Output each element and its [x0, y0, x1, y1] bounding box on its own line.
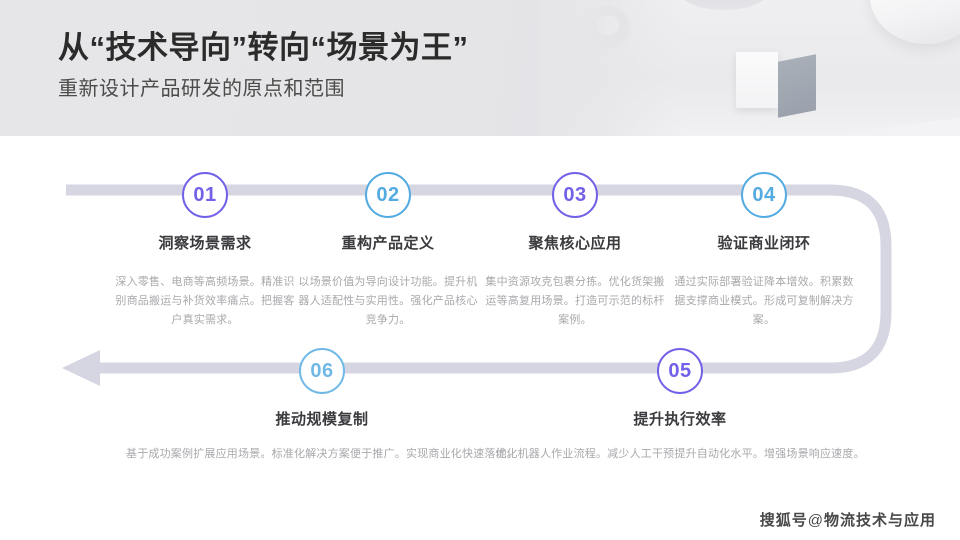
step-number-badge-04: 04: [741, 172, 787, 218]
page-subtitle: 重新设计产品研发的原点和范围: [58, 72, 345, 101]
step-title-01: 洞察场景需求: [112, 232, 298, 253]
decorative-3d-render: [540, 0, 960, 136]
render-haze-overlay: [540, 0, 960, 136]
step-title-02: 重构产品定义: [295, 232, 481, 253]
step-number-badge-05: 05: [657, 348, 703, 394]
flow-step-05[interactable]: 05 提升执行效率 优化机器人作业流程。减少人工干预提升自动化水平。增强场景响应…: [570, 348, 790, 464]
step-number-badge-03: 03: [552, 172, 598, 218]
page-title: 从“技术导向”转向“场景为王”: [58, 22, 469, 67]
watermark-separator: @: [808, 512, 824, 529]
slide-root: 从“技术导向”转向“场景为王” 重新设计产品研发的原点和范围 01 洞察场景需求…: [0, 0, 960, 540]
step-title-03: 聚焦核心应用: [482, 232, 668, 253]
step-number-badge-02: 02: [365, 172, 411, 218]
step-title-05: 提升执行效率: [570, 408, 790, 429]
step-description-06: 基于成功案例扩展应用场景。标准化解决方案便于推广。实现商业化快速落地。: [112, 445, 532, 464]
flow-step-04[interactable]: 04 验证商业闭环 通过实际部署验证降本增效。积累数据支撑商业模式。形成可复制解…: [671, 172, 857, 330]
step-number-badge-01: 01: [182, 172, 228, 218]
flow-step-02[interactable]: 02 重构产品定义 以场景价值为导向设计功能。提升机器人适配性与实用性。强化产品…: [295, 172, 481, 330]
flow-step-03[interactable]: 03 聚焦核心应用 集中资源攻克包裹分拣。优化货架搬运等高复用场景。打造可示范的…: [482, 172, 668, 330]
step-description-03: 集中资源攻克包裹分拣。优化货架搬运等高复用场景。打造可示范的标杆案例。: [482, 273, 668, 330]
step-title-06: 推动规模复制: [212, 408, 432, 429]
step-number-badge-06: 06: [299, 348, 345, 394]
step-title-04: 验证商业闭环: [671, 232, 857, 253]
step-description-02: 以场景价值为导向设计功能。提升机器人适配性与实用性。强化产品核心竞争力。: [295, 273, 481, 330]
flow-arrow-head-icon: [62, 350, 100, 386]
header-band: 从“技术导向”转向“场景为王” 重新设计产品研发的原点和范围: [0, 0, 960, 136]
step-description-01: 深入零售、电商等高频场景。精准识别商品搬运与补货效率痛点。把握客户真实需求。: [112, 273, 298, 330]
flow-step-06[interactable]: 06 推动规模复制 基于成功案例扩展应用场景。标准化解决方案便于推广。实现商业化…: [212, 348, 432, 464]
watermark-platform: 搜狐号: [760, 512, 808, 529]
flow-step-01[interactable]: 01 洞察场景需求 深入零售、电商等高频场景。精准识别商品搬运与补货效率痛点。把…: [112, 172, 298, 330]
step-description-04: 通过实际部署验证降本增效。积累数据支撑商业模式。形成可复制解决方案。: [671, 273, 857, 330]
watermark: 搜狐号@物流技术与应用: [760, 509, 936, 530]
step-description-05: 优化机器人作业流程。减少人工干预提升自动化水平。增强场景响应速度。: [470, 445, 890, 464]
watermark-account: 物流技术与应用: [824, 512, 936, 529]
